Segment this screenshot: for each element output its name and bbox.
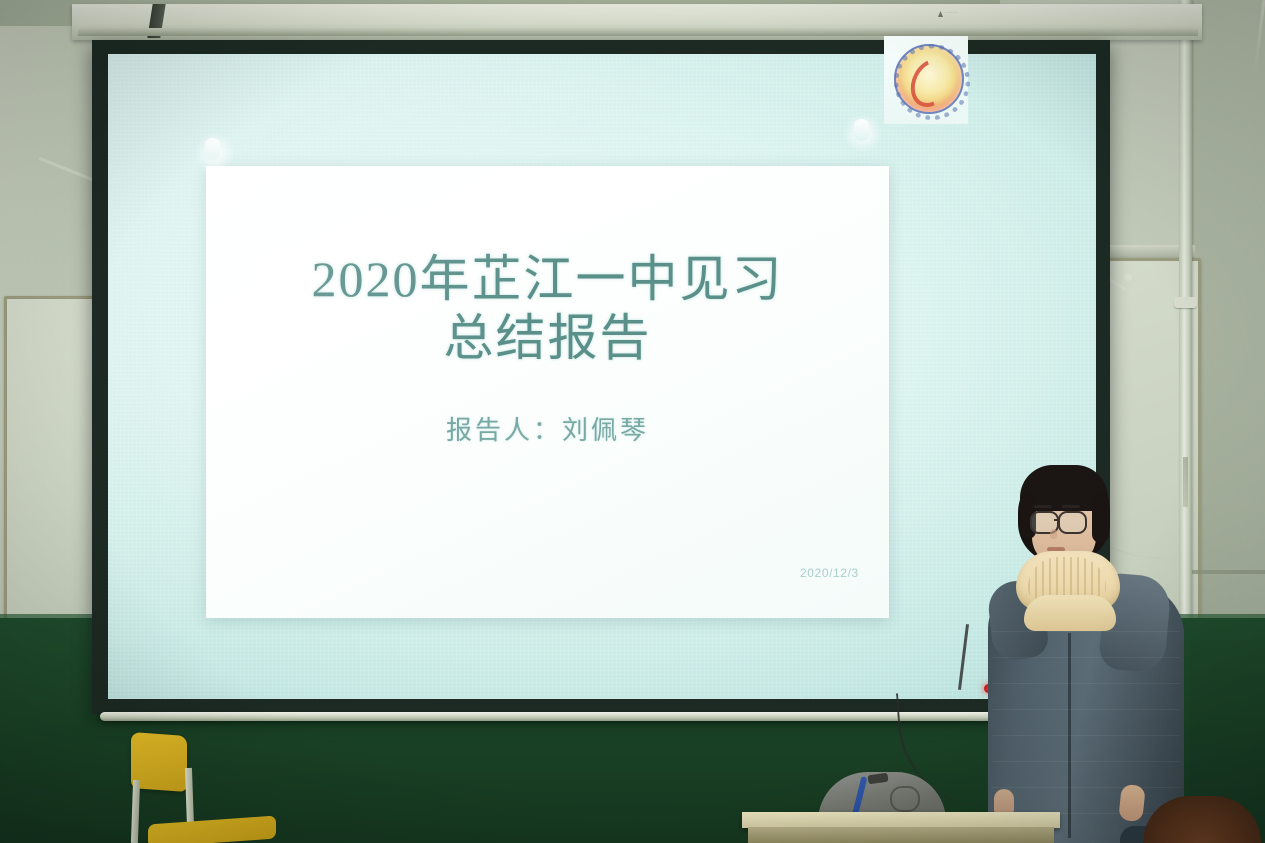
slide-title: 2020年芷江一中见习 总结报告 [206, 250, 889, 368]
classroom-photo-scene: ····· 2020年芷江一中见习 总结报告 报告人：刘佩琴 2020/12/3 [0, 0, 1265, 843]
presenter-eyebrow-left [1034, 505, 1052, 508]
coat-zipper [1068, 633, 1071, 838]
housing-brand-label: ····· [945, 10, 958, 16]
presenter [980, 455, 1195, 843]
podium-surface [742, 812, 1060, 828]
presenter-hair-fringe [1028, 485, 1100, 507]
wall-hook-tip-icon [1124, 273, 1132, 281]
presentation-slide [206, 166, 889, 618]
backpack-pocket [890, 786, 920, 812]
podium-body [748, 827, 1054, 843]
pipe-clip [1174, 297, 1197, 308]
slide-presenter-line: 报告人：刘佩琴 [206, 410, 889, 447]
glasses-bridge-icon [1054, 519, 1060, 521]
glasses-lens-right-icon [1058, 511, 1087, 534]
wall-rail-right [1192, 570, 1265, 574]
turtleneck-lower [1024, 595, 1116, 631]
presenter-eyebrow-right [1062, 505, 1080, 508]
slide-date: 2020/12/3 [800, 566, 859, 580]
housing-lip [78, 28, 1198, 36]
presenter-hair-right [1092, 493, 1109, 543]
presenter-nose [1050, 529, 1057, 539]
